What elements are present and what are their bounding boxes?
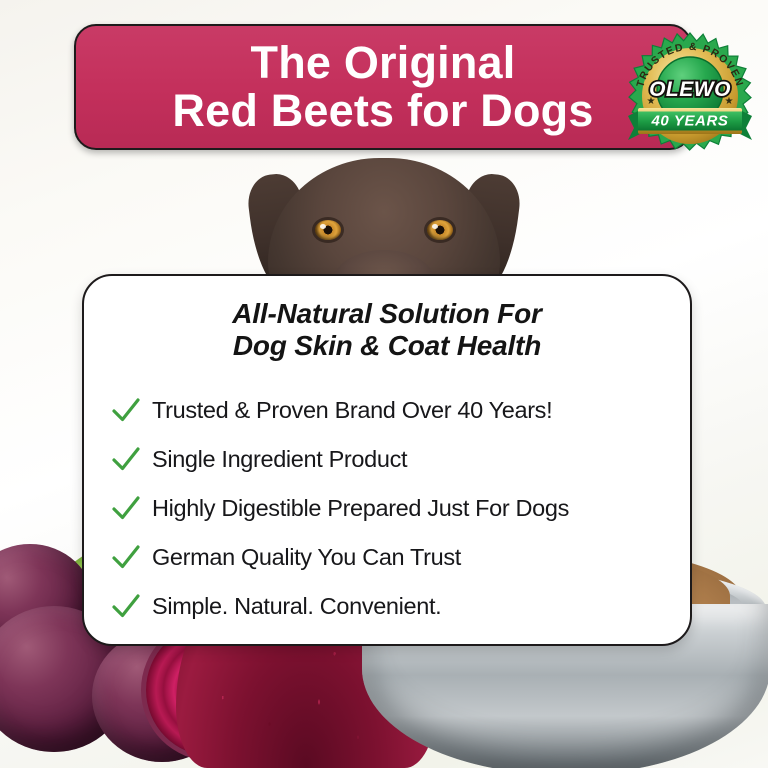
- seal-brand-text: OLEWO: [649, 78, 731, 101]
- list-item: Simple. Natural. Convenient.: [110, 582, 690, 631]
- card-heading-line-2: Dog Skin & Coat Health: [104, 330, 670, 362]
- list-item-label: Simple. Natural. Convenient.: [152, 595, 441, 619]
- card-heading: All-Natural Solution For Dog Skin & Coat…: [104, 298, 670, 363]
- list-item: German Quality You Can Trust: [110, 533, 690, 582]
- list-item: Highly Digestible Prepared Just For Dogs: [110, 484, 690, 533]
- list-item-label: Trusted & Proven Brand Over 40 Years!: [152, 399, 552, 423]
- banner-title-line-1: The Original: [251, 39, 516, 87]
- check-icon: [110, 492, 142, 524]
- check-icon: [110, 394, 142, 426]
- dog-eye-left: [315, 220, 341, 240]
- title-banner: The Original Red Beets for Dogs: [74, 24, 692, 150]
- feature-list: Trusted & Proven Brand Over 40 Years! Si…: [110, 386, 690, 631]
- banner-title-line-2: Red Beets for Dogs: [172, 87, 593, 135]
- list-item-label: Highly Digestible Prepared Just For Dogs: [152, 497, 569, 521]
- dog-eye-right: [427, 220, 453, 240]
- list-item: Single Ingredient Product: [110, 435, 690, 484]
- promo-graphic: The Original Red Beets for Dogs: [0, 0, 768, 768]
- olewo-trust-seal: TRUSTED & PROVEN ★ ★ OLEWO 40 YEARS: [622, 28, 758, 160]
- list-item-label: German Quality You Can Trust: [152, 546, 461, 570]
- feature-card: All-Natural Solution For Dog Skin & Coat…: [82, 274, 692, 646]
- check-icon: [110, 541, 142, 573]
- list-item-label: Single Ingredient Product: [152, 448, 407, 472]
- check-icon: [110, 443, 142, 475]
- list-item: Trusted & Proven Brand Over 40 Years!: [110, 386, 690, 435]
- check-icon: [110, 590, 142, 622]
- seal-ribbon-text: 40 YEARS: [650, 113, 728, 130]
- card-heading-line-1: All-Natural Solution For: [104, 298, 670, 330]
